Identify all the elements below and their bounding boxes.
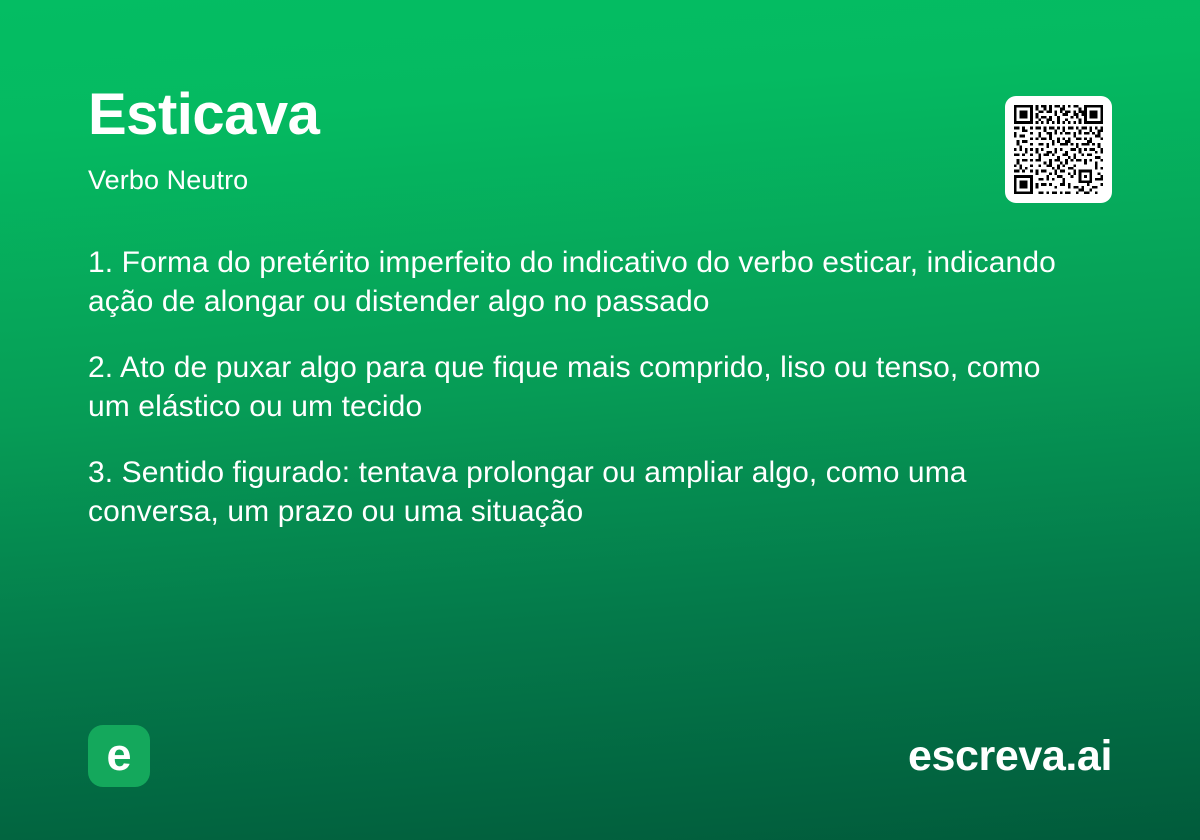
escreva-logo-icon[interactable]: e — [88, 725, 150, 787]
word-class-label: Verbo Neutro — [88, 167, 319, 194]
definition-item: 1. Forma do pretérito imperfeito do indi… — [88, 243, 1088, 321]
card-header: Esticava Verbo Neutro — [88, 86, 1112, 203]
card-footer: e escreva.ai — [88, 724, 1112, 788]
definition-item: 2. Ato de puxar algo para que fique mais… — [88, 348, 1088, 426]
brand-name: escreva.ai — [908, 735, 1112, 778]
page-title: Esticava — [88, 86, 319, 144]
headings-group: Esticava Verbo Neutro — [88, 86, 319, 194]
definitions-list: 1. Forma do pretérito imperfeito do indi… — [88, 243, 1088, 531]
logo-letter: e — [106, 732, 131, 777]
qr-code-icon[interactable] — [1005, 96, 1112, 203]
definition-item: 3. Sentido figurado: tentava prolongar o… — [88, 453, 1088, 531]
dictionary-card: Esticava Verbo Neutro — [0, 0, 1200, 840]
